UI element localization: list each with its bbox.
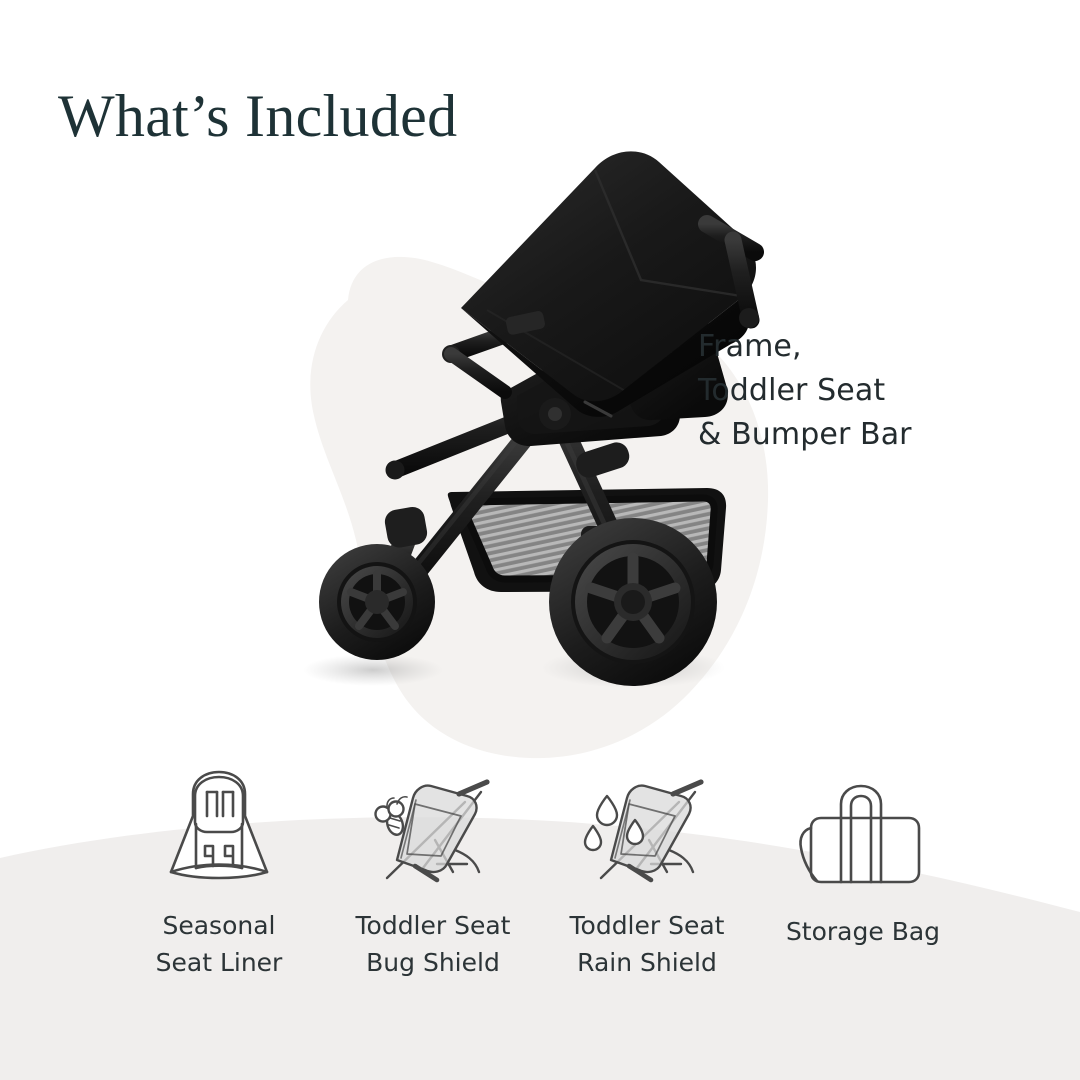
- accessory-item-bug-shield[interactable]: Toddler Seat Bug Shield: [328, 768, 538, 981]
- accessory-label: Toddler Seat Rain Shield: [570, 908, 725, 981]
- front-hub: [365, 590, 389, 614]
- accessory-item-rain-shield[interactable]: Toddler Seat Rain Shield: [542, 768, 752, 981]
- accessory-label: Toddler Seat Bug Shield: [356, 908, 511, 981]
- accessory-item-storage-bag[interactable]: Storage Bag: [758, 768, 968, 951]
- accessory-list: Seasonal Seat Liner: [0, 768, 1080, 1028]
- accessory-label: Seasonal Seat Liner: [156, 908, 283, 981]
- accessory-item-seat-liner[interactable]: Seasonal Seat Liner: [114, 768, 324, 981]
- hero-callout-text: Frame, Toddler Seat & Bumper Bar: [698, 325, 912, 457]
- rear-wheel: [549, 518, 717, 686]
- storage-bag-icon: [793, 780, 933, 886]
- rain-shield-icon: [577, 768, 717, 886]
- bug-shield-icon: [363, 768, 503, 886]
- seat-liner-icon: [149, 768, 289, 886]
- infographic-canvas: What’s Included: [0, 0, 1080, 1080]
- footrest: [451, 354, 505, 392]
- accessory-label: Storage Bag: [786, 914, 940, 951]
- front-wheel: [319, 505, 435, 660]
